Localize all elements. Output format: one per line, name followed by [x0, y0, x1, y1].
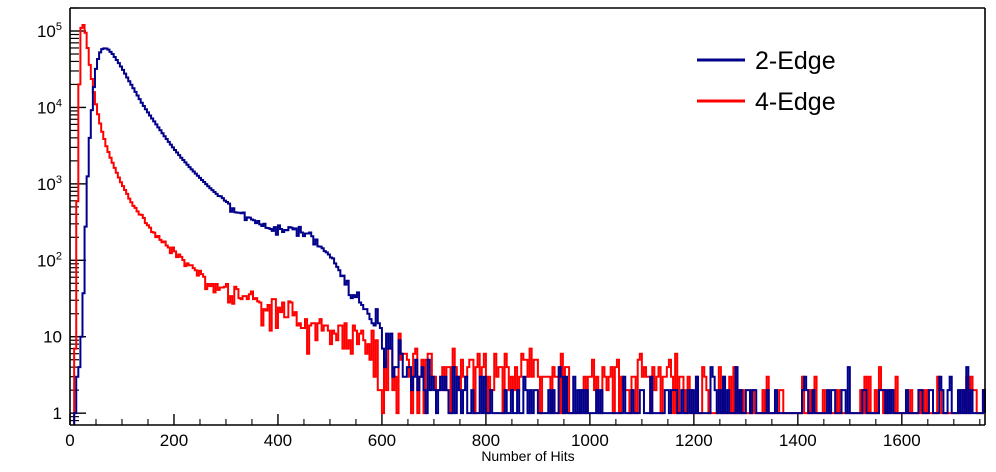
legend-label-2-edge: 2-Edge	[755, 47, 836, 75]
x-tick-label: 1600	[883, 431, 921, 450]
x-tick-label: 600	[368, 431, 396, 450]
x-tick-label: 400	[264, 431, 292, 450]
x-tick-label: 1200	[675, 431, 713, 450]
legend-label-4-edge: 4-Edge	[755, 88, 836, 116]
x-axis-title: Number of Hits	[481, 448, 574, 464]
x-tick-label: 200	[160, 431, 188, 450]
x-tick-label: 1400	[779, 431, 817, 450]
y-tick-label: 10	[43, 328, 62, 347]
histogram-plot: 110102103104105 020040060080010001200140…	[0, 0, 996, 472]
x-tick-label: 0	[65, 431, 74, 450]
x-tick-label: 1000	[571, 431, 609, 450]
chart-canvas: 110102103104105 020040060080010001200140…	[0, 0, 996, 472]
y-tick-label: 1	[53, 404, 62, 423]
